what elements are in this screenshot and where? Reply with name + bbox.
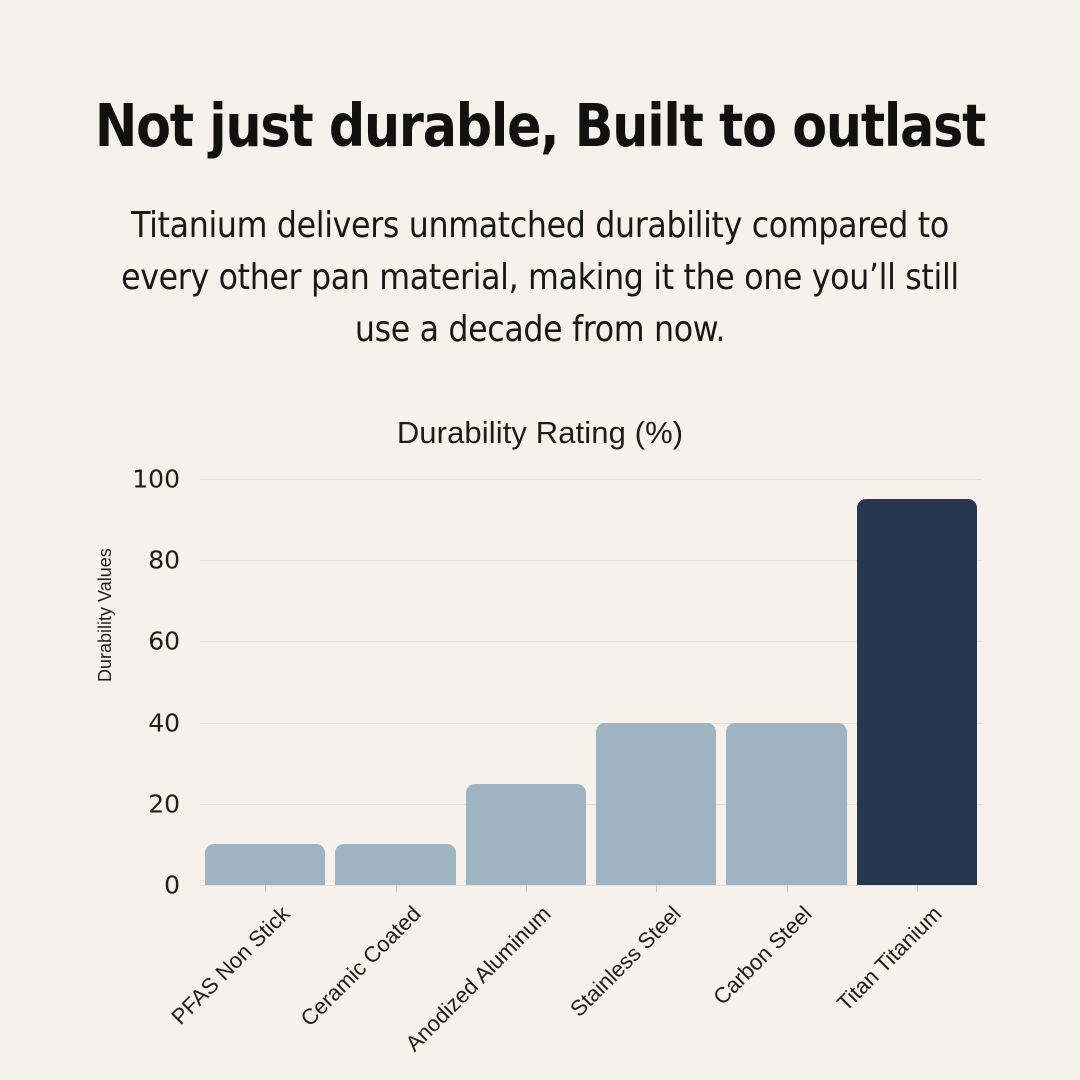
x-axis-tick-label: Stainless Steel bbox=[565, 901, 686, 1022]
x-axis-tick-labels: PFAS Non StickCeramic CoatedAnodized Alu… bbox=[0, 895, 1080, 1075]
x-axis-tick-label: PFAS Non Stick bbox=[166, 901, 295, 1030]
y-axis-tick-label: 40 bbox=[120, 708, 180, 737]
chart-title: Durability Rating (%) bbox=[0, 415, 1080, 451]
x-axis-tick bbox=[656, 885, 657, 892]
bar-chart: Durability Rating (%) Durability Values … bbox=[0, 390, 1080, 1080]
bar[interactable] bbox=[335, 844, 455, 885]
x-axis-tick bbox=[917, 885, 918, 892]
x-axis-tick bbox=[396, 885, 397, 892]
page-headline: Not just durable, Built to outlast bbox=[76, 96, 1005, 155]
bar[interactable] bbox=[596, 723, 716, 885]
y-axis-tick-label: 20 bbox=[120, 789, 180, 818]
x-axis-tick bbox=[526, 885, 527, 892]
x-axis-tick-label: Anodized Aluminum bbox=[400, 901, 556, 1057]
y-axis-tick-label: 60 bbox=[120, 627, 180, 656]
x-axis-tick-label: Carbon Steel bbox=[708, 901, 817, 1010]
bar[interactable] bbox=[205, 844, 325, 885]
x-axis-tick-label: Titan Titanium bbox=[832, 901, 948, 1017]
page-subheadline: Titanium delivers unmatched durability c… bbox=[114, 200, 966, 356]
x-axis-tick bbox=[265, 885, 266, 892]
y-axis-tick-labels: 020406080100 bbox=[118, 479, 180, 885]
bar[interactable] bbox=[466, 784, 586, 886]
y-axis-tick-label: 80 bbox=[120, 546, 180, 575]
x-axis-tick bbox=[787, 885, 788, 892]
bar[interactable] bbox=[726, 723, 846, 885]
gridline bbox=[200, 479, 982, 480]
y-axis-tick-label: 100 bbox=[120, 465, 180, 494]
x-axis-tick-label: Ceramic Coated bbox=[295, 901, 426, 1032]
bar[interactable] bbox=[857, 499, 977, 885]
x-axis-ticks bbox=[200, 885, 982, 895]
plot-area bbox=[200, 479, 982, 885]
y-axis-title: Durability Values bbox=[95, 548, 116, 682]
